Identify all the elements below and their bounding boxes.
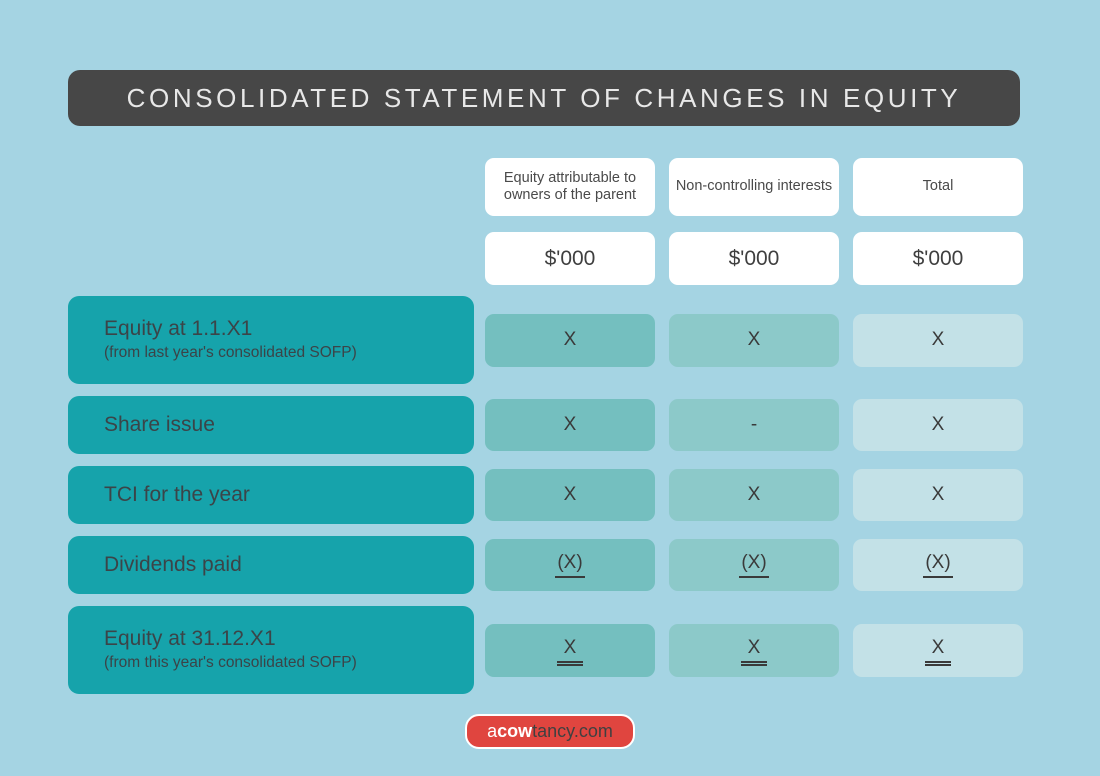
page-title-bar: CONSOLIDATED STATEMENT OF CHANGES IN EQU… xyxy=(68,70,1020,126)
cell-value: X xyxy=(925,637,952,663)
row-label-title: Equity at 1.1.X1 xyxy=(104,317,474,341)
column-header-nci: Non-controlling interests xyxy=(669,158,839,216)
cell-equity-opening-nci: X xyxy=(669,314,839,367)
cell-value: (X) xyxy=(555,552,584,578)
cell-box: - xyxy=(669,399,839,451)
cell-equity-closing-parent: X xyxy=(485,624,655,677)
units-cell-nci: $'000 xyxy=(669,232,839,285)
row-label-cell-equity-opening: Equity at 1.1.X1 (from last year's conso… xyxy=(68,296,474,384)
cell-box: X xyxy=(853,469,1023,521)
column-header-label: Equity attributable to owners of the par… xyxy=(491,170,649,204)
cell-value: X xyxy=(741,637,768,663)
row-label-title: TCI for the year xyxy=(104,483,474,507)
row-label-subtitle: (from this year's consolidated SOFP) xyxy=(104,654,474,673)
units-label: $'000 xyxy=(545,247,596,271)
cell-value: X xyxy=(932,329,945,351)
cell-box: X xyxy=(853,624,1023,677)
logo-text-cow: cow xyxy=(497,722,532,740)
row-label-title: Equity at 31.12.X1 xyxy=(104,627,474,651)
cell-share-issue-nci: - xyxy=(669,399,839,451)
logo-text-a: a xyxy=(487,722,497,740)
column-header-label: Non-controlling interests xyxy=(676,178,832,195)
cell-dividends-nci: (X) xyxy=(669,539,839,591)
cell-box: (X) xyxy=(485,539,655,591)
cell-box: X xyxy=(669,314,839,367)
table-row: Share issue X - X xyxy=(68,396,1022,454)
cell-value: - xyxy=(751,414,757,436)
row-label-box: Share issue xyxy=(68,396,474,454)
row-label-cell-tci: TCI for the year xyxy=(68,466,474,524)
table-row: Equity at 1.1.X1 (from last year's conso… xyxy=(68,296,1022,384)
cell-dividends-parent: (X) xyxy=(485,539,655,591)
units-label: $'000 xyxy=(913,247,964,271)
cell-value: X xyxy=(564,414,577,436)
table-body: Equity at 1.1.X1 (from last year's conso… xyxy=(68,296,1022,694)
slide-canvas: CONSOLIDATED STATEMENT OF CHANGES IN EQU… xyxy=(0,0,1100,776)
footer: acowtancy.com xyxy=(0,714,1100,749)
cell-box: (X) xyxy=(853,539,1023,591)
row-label-subtitle: (from last year's consolidated SOFP) xyxy=(104,344,474,363)
row-label-title: Dividends paid xyxy=(104,553,474,577)
table-row: TCI for the year X X X xyxy=(68,466,1022,524)
row-label-cell-share-issue: Share issue xyxy=(68,396,474,454)
row-label-box: Dividends paid xyxy=(68,536,474,594)
row-label-box: Equity at 31.12.X1 (from this year's con… xyxy=(68,606,474,694)
equity-table: Equity attributable to owners of the par… xyxy=(68,158,1022,706)
cell-value: X xyxy=(748,484,761,506)
column-header-label: Total xyxy=(923,178,954,195)
cell-share-issue-total: X xyxy=(853,399,1023,451)
cell-value: X xyxy=(557,637,584,663)
cell-value: X xyxy=(932,414,945,436)
cell-box: X xyxy=(485,399,655,451)
cell-value: X xyxy=(564,329,577,351)
cell-value: X xyxy=(932,484,945,506)
cell-box: X xyxy=(485,314,655,367)
cell-box: X xyxy=(485,469,655,521)
cell-equity-closing-total: X xyxy=(853,624,1023,677)
header-label-spacer xyxy=(68,158,474,216)
row-label-cell-dividends: Dividends paid xyxy=(68,536,474,594)
cell-equity-opening-total: X xyxy=(853,314,1023,367)
table-row: Equity at 31.12.X1 (from this year's con… xyxy=(68,606,1022,694)
cell-value: X xyxy=(564,484,577,506)
cell-box: X xyxy=(669,624,839,677)
units-cell-equity-parent: $'000 xyxy=(485,232,655,285)
table-row: Dividends paid (X) (X) (X) xyxy=(68,536,1022,594)
cell-value: (X) xyxy=(923,552,952,578)
cell-box: X xyxy=(485,624,655,677)
cell-share-issue-parent: X xyxy=(485,399,655,451)
table-header-row: Equity attributable to owners of the par… xyxy=(68,158,1022,216)
cell-value: X xyxy=(748,329,761,351)
table-units-row: $'000 $'000 $'000 xyxy=(68,232,1022,285)
units-label-spacer xyxy=(68,232,474,285)
page-title: CONSOLIDATED STATEMENT OF CHANGES IN EQU… xyxy=(127,83,962,114)
cell-tci-parent: X xyxy=(485,469,655,521)
column-header-total: Total xyxy=(853,158,1023,216)
cell-box: (X) xyxy=(669,539,839,591)
units-cell-total: $'000 xyxy=(853,232,1023,285)
header-gap xyxy=(68,223,1022,232)
cell-value: (X) xyxy=(739,552,768,578)
cell-box: X xyxy=(853,399,1023,451)
acowtancy-logo[interactable]: acowtancy.com xyxy=(465,714,635,749)
cell-box: X xyxy=(669,469,839,521)
row-label-cell-equity-closing: Equity at 31.12.X1 (from this year's con… xyxy=(68,606,474,694)
row-label-box: TCI for the year xyxy=(68,466,474,524)
cell-dividends-total: (X) xyxy=(853,539,1023,591)
cell-equity-opening-parent: X xyxy=(485,314,655,367)
logo-text-rest: tancy.com xyxy=(532,722,613,740)
cell-box: X xyxy=(853,314,1023,367)
cell-tci-total: X xyxy=(853,469,1023,521)
cell-equity-closing-nci: X xyxy=(669,624,839,677)
units-label: $'000 xyxy=(729,247,780,271)
row-label-title: Share issue xyxy=(104,413,474,437)
column-header-equity-parent: Equity attributable to owners of the par… xyxy=(485,158,655,216)
cell-tci-nci: X xyxy=(669,469,839,521)
row-label-box: Equity at 1.1.X1 (from last year's conso… xyxy=(68,296,474,384)
